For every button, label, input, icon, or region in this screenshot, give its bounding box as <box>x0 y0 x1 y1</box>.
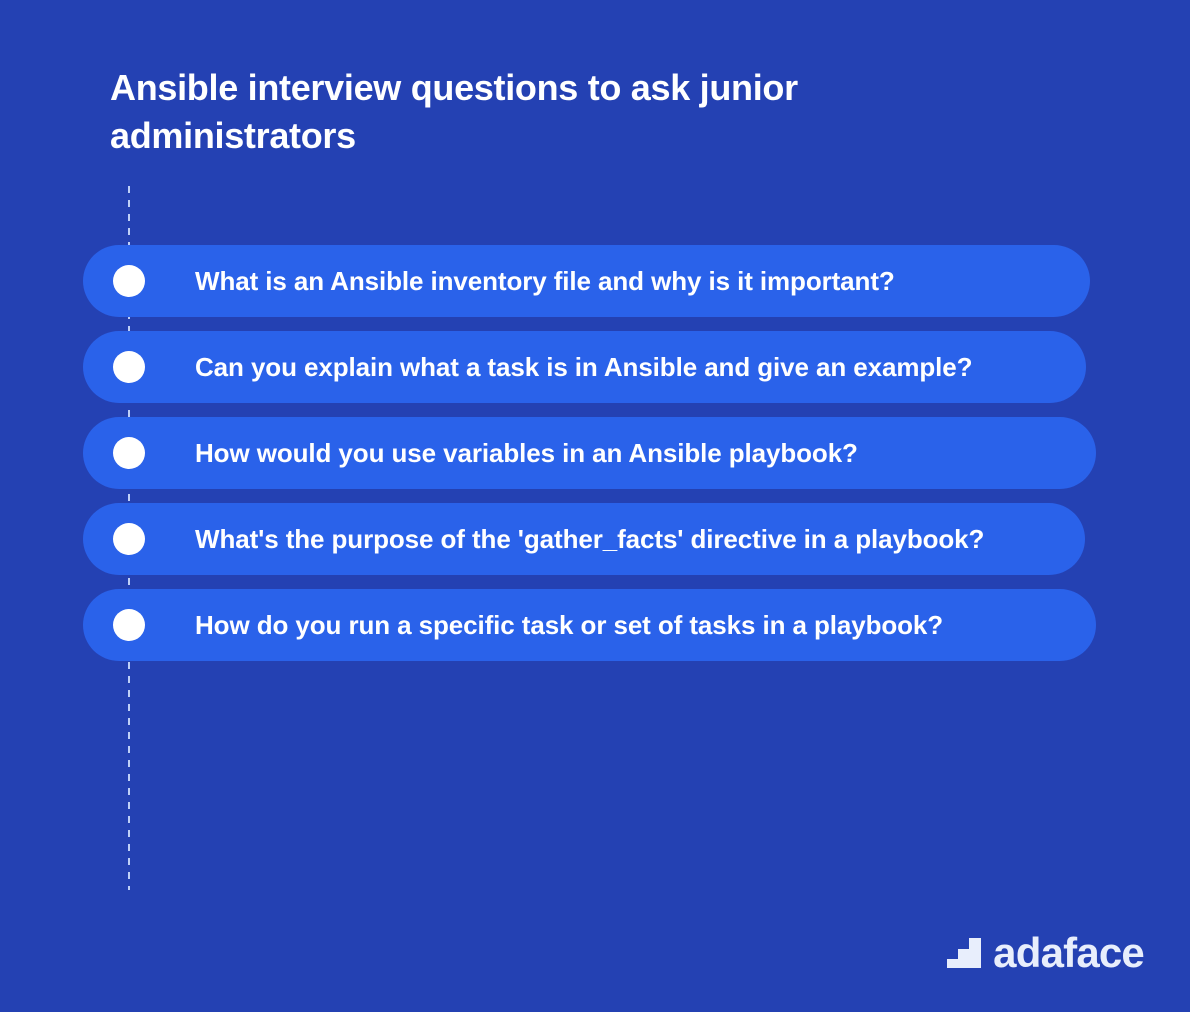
question-text: How do you run a specific task or set of… <box>195 607 943 644</box>
circle-bullet-icon <box>113 523 145 555</box>
page-title: Ansible interview questions to ask junio… <box>110 64 970 160</box>
circle-bullet-icon <box>113 437 145 469</box>
poster-canvas: Ansible interview questions to ask junio… <box>0 0 1190 1012</box>
list-item[interactable]: What's the purpose of the 'gather_facts'… <box>83 503 1085 575</box>
question-list: What is an Ansible inventory file and wh… <box>0 245 1190 675</box>
adaface-bars-logo-icon <box>947 938 981 968</box>
brand-name: adaface <box>993 932 1144 974</box>
question-text: What's the purpose of the 'gather_facts'… <box>195 521 984 558</box>
circle-bullet-icon <box>113 265 145 297</box>
question-text: How would you use variables in an Ansibl… <box>195 435 858 472</box>
list-item[interactable]: How do you run a specific task or set of… <box>83 589 1096 661</box>
question-text: What is an Ansible inventory file and wh… <box>195 263 895 300</box>
circle-bullet-icon <box>113 609 145 641</box>
circle-bullet-icon <box>113 351 145 383</box>
list-item[interactable]: What is an Ansible inventory file and wh… <box>83 245 1090 317</box>
question-text: Can you explain what a task is in Ansibl… <box>195 349 972 386</box>
list-item[interactable]: How would you use variables in an Ansibl… <box>83 417 1096 489</box>
brand-logo: adaface <box>947 932 1144 974</box>
list-item[interactable]: Can you explain what a task is in Ansibl… <box>83 331 1086 403</box>
